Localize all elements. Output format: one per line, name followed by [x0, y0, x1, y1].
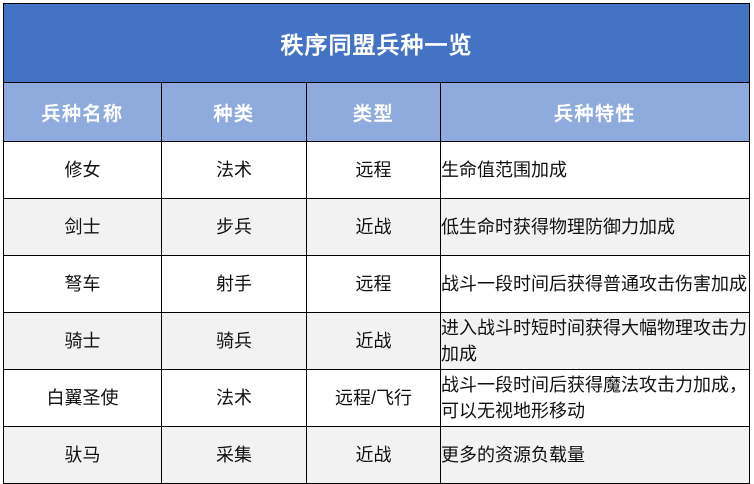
- table-row: 驮马 采集 近战 更多的资源负载量: [4, 427, 750, 484]
- table-row: 骑士 骑兵 近战 进入战斗时短时间获得大幅物理攻击力加成: [4, 313, 750, 370]
- cell-unit-kind: 采集: [162, 427, 307, 484]
- cell-unit-trait: 生命值范围加成: [441, 142, 750, 199]
- cell-unit-type: 近战: [307, 313, 441, 370]
- table-body: 修女 法术 远程 生命值范围加成 剑士 步兵 近战 低生命时获得物理防御力加成 …: [4, 142, 750, 484]
- cell-unit-trait: 进入战斗时短时间获得大幅物理攻击力加成: [441, 313, 750, 370]
- column-header-kind: 种类: [162, 83, 307, 142]
- cell-unit-name: 修女: [4, 142, 162, 199]
- title-row: 秩序同盟兵种一览: [4, 4, 750, 83]
- cell-unit-trait: 战斗一段时间后获得魔法攻击力加成，可以无视地形移动: [441, 370, 750, 427]
- cell-unit-type: 远程: [307, 256, 441, 313]
- header-row: 兵种名称 种类 类型 兵种特性: [4, 83, 750, 142]
- column-header-name: 兵种名称: [4, 83, 162, 142]
- cell-unit-name: 白翼圣使: [4, 370, 162, 427]
- cell-unit-name: 驮马: [4, 427, 162, 484]
- cell-unit-type: 近战: [307, 427, 441, 484]
- cell-unit-name: 剑士: [4, 199, 162, 256]
- cell-unit-trait: 低生命时获得物理防御力加成: [441, 199, 750, 256]
- unit-table-container: 秩序同盟兵种一览 兵种名称 种类 类型 兵种特性 修女 法术 远程 生命值范围加…: [0, 0, 754, 483]
- cell-unit-kind: 步兵: [162, 199, 307, 256]
- cell-unit-type: 远程/飞行: [307, 370, 441, 427]
- cell-unit-name: 骑士: [4, 313, 162, 370]
- table-row: 白翼圣使 法术 远程/飞行 战斗一段时间后获得魔法攻击力加成，可以无视地形移动: [4, 370, 750, 427]
- table-row: 弩车 射手 远程 战斗一段时间后获得普通攻击伤害加成: [4, 256, 750, 313]
- cell-unit-trait: 战斗一段时间后获得普通攻击伤害加成: [441, 256, 750, 313]
- table-row: 修女 法术 远程 生命值范围加成: [4, 142, 750, 199]
- column-header-trait: 兵种特性: [441, 83, 750, 142]
- column-header-type: 类型: [307, 83, 441, 142]
- table-head: 秩序同盟兵种一览 兵种名称 种类 类型 兵种特性: [4, 4, 750, 142]
- cell-unit-kind: 射手: [162, 256, 307, 313]
- cell-unit-name: 弩车: [4, 256, 162, 313]
- cell-unit-kind: 法术: [162, 142, 307, 199]
- cell-unit-type: 近战: [307, 199, 441, 256]
- cell-unit-trait: 更多的资源负载量: [441, 427, 750, 484]
- table-row: 剑士 步兵 近战 低生命时获得物理防御力加成: [4, 199, 750, 256]
- unit-overview-table: 秩序同盟兵种一览 兵种名称 种类 类型 兵种特性 修女 法术 远程 生命值范围加…: [3, 3, 750, 484]
- cell-unit-type: 远程: [307, 142, 441, 199]
- table-title: 秩序同盟兵种一览: [4, 4, 750, 83]
- cell-unit-kind: 法术: [162, 370, 307, 427]
- cell-unit-kind: 骑兵: [162, 313, 307, 370]
